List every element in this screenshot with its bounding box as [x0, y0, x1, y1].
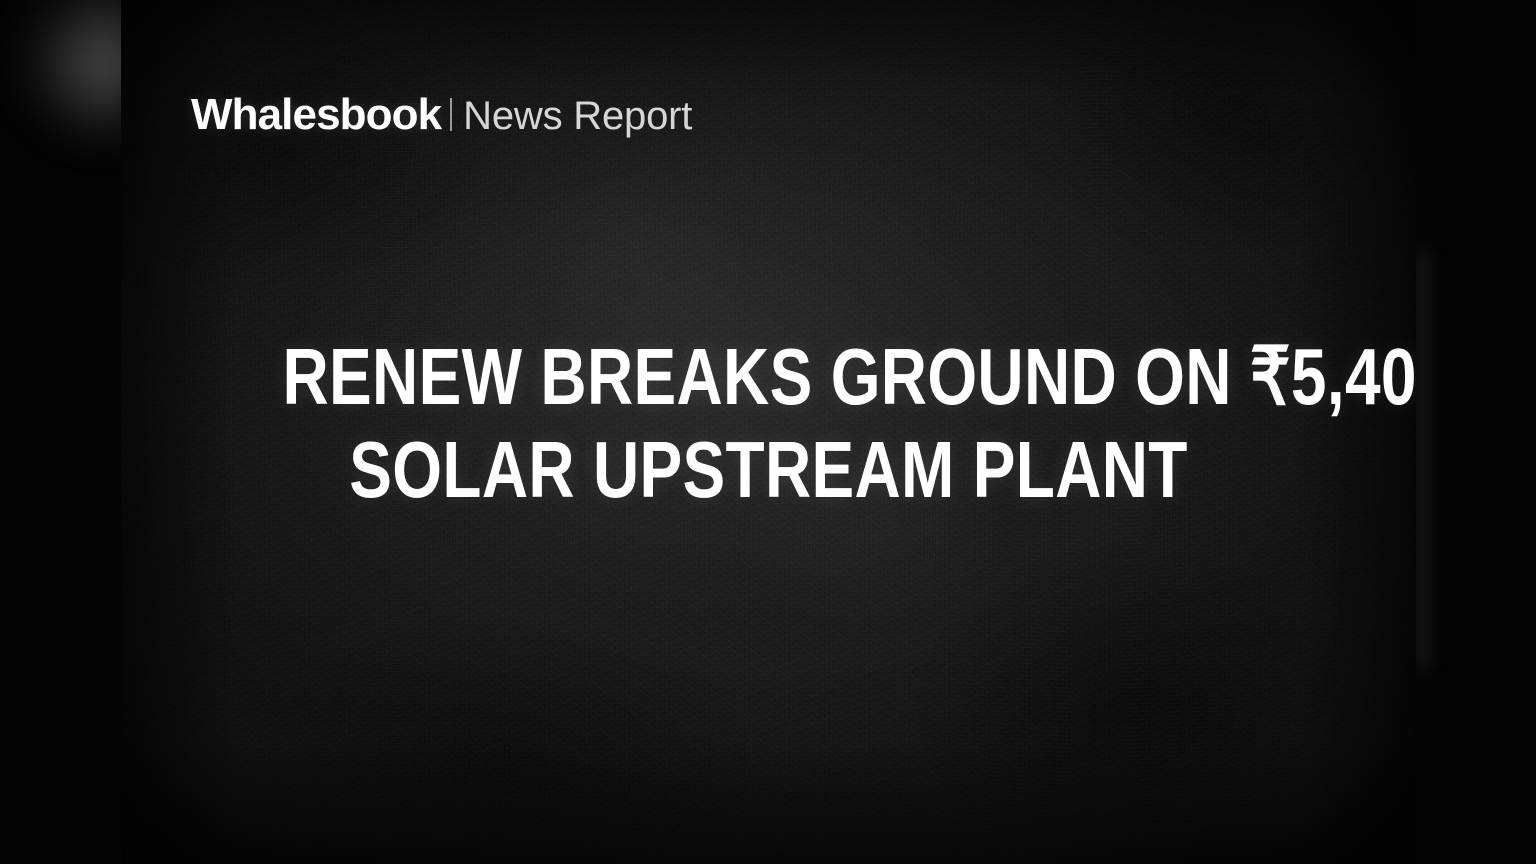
headline-line-2: SOLAR UPSTREAM PLANT: [283, 423, 1255, 516]
brand-subtitle: News Report: [463, 96, 692, 136]
brand-divider-icon: [450, 98, 452, 131]
brand-name: Whalesbook: [191, 93, 441, 137]
brand-logo: Whalesbook News Report: [191, 93, 692, 137]
card-content: Whalesbook News Report RENEW BREAKS GROU…: [121, 0, 1416, 864]
news-report-canvas: Whalesbook News Report RENEW BREAKS GROU…: [0, 0, 1536, 864]
headline-line-1: RENEW BREAKS GROUND ON ₹5,400 CR: [283, 330, 1255, 423]
headline: RENEW BREAKS GROUND ON ₹5,400 CR SOLAR U…: [121, 330, 1416, 516]
news-card: Whalesbook News Report RENEW BREAKS GROU…: [121, 0, 1416, 864]
